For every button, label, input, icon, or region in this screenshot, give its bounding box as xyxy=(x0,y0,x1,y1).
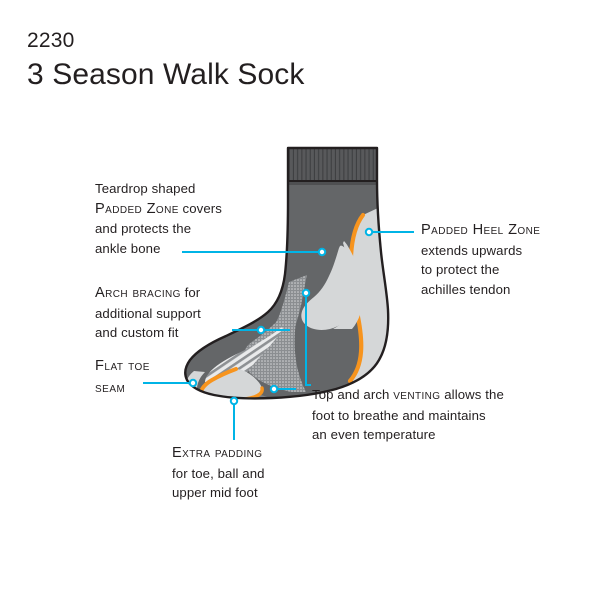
leader-dot-teardrop xyxy=(319,249,325,255)
annotation-teardrop-line-4: ankle bone xyxy=(95,239,270,259)
annotation-vent-line-1-pre: Top and arch xyxy=(312,387,393,402)
annotation-teardrop-line-1: Teardrop shaped xyxy=(95,179,270,199)
annotation-extra-smallcaps: Extra padding xyxy=(172,444,332,464)
annotation-extra-padding: Extra padding for toe, ball and upper mi… xyxy=(172,444,332,503)
leader-dot-extra-padding xyxy=(231,398,237,404)
annotation-venting: Top and arch venting allows the foot to … xyxy=(312,385,570,445)
annotation-heel-line-2: extends upwards xyxy=(421,241,581,261)
leader-dot-venting-top xyxy=(303,290,309,296)
annotation-teardrop-line-3: and protects the xyxy=(95,219,270,239)
annotation-arch-bracing: Arch bracing for additional support and … xyxy=(95,283,260,343)
annotation-flat-toe-seam: Flat toe seam xyxy=(95,355,185,399)
annotation-teardrop: Teardrop shaped Padded Zone covers and p… xyxy=(95,179,270,258)
annotation-arch-line-2: additional support xyxy=(95,304,260,324)
leader-dot-toe-seam xyxy=(190,380,196,386)
annotation-toe-seam-line-1: Flat toe xyxy=(95,355,185,377)
annotation-heel-line-3: to protect the xyxy=(421,260,581,280)
annotation-vent-line-2: foot to breathe and maintains xyxy=(312,406,570,426)
annotation-arch-line-3: and custom fit xyxy=(95,323,260,343)
annotation-arch-line-1-rest: for xyxy=(181,285,200,300)
annotation-vent-smallcaps: venting xyxy=(393,387,440,403)
annotation-teardrop-smallcaps: Padded Zone xyxy=(95,201,179,217)
ribbed-cuff xyxy=(288,148,377,181)
sock-illustration xyxy=(0,0,600,600)
annotation-extra-line-2: for toe, ball and xyxy=(172,464,332,484)
leader-dot-heel xyxy=(366,229,372,235)
annotation-vent-line-1-post: allows the xyxy=(440,387,503,402)
product-diagram-page: 2230 3 Season Walk Sock xyxy=(0,0,600,600)
annotation-arch-line-1: Arch bracing for xyxy=(95,283,260,304)
annotation-teardrop-line-2-rest: covers xyxy=(179,201,222,216)
annotation-heel-smallcaps: Padded Heel Zone xyxy=(421,221,581,241)
annotation-toe-seam-line-2: seam xyxy=(95,377,185,399)
annotation-padded-heel-zone: Padded Heel Zone extends upwards to prot… xyxy=(421,221,581,299)
annotation-arch-smallcaps: Arch bracing xyxy=(95,285,181,301)
annotation-heel-line-4: achilles tendon xyxy=(421,280,581,300)
annotation-teardrop-line-2: Padded Zone covers xyxy=(95,199,270,220)
annotation-vent-line-1: Top and arch venting allows the xyxy=(312,385,570,406)
annotation-extra-line-3: upper mid foot xyxy=(172,483,332,503)
leader-dot-venting-bottom xyxy=(271,386,277,392)
annotation-vent-line-3: an even temperature xyxy=(312,425,570,445)
